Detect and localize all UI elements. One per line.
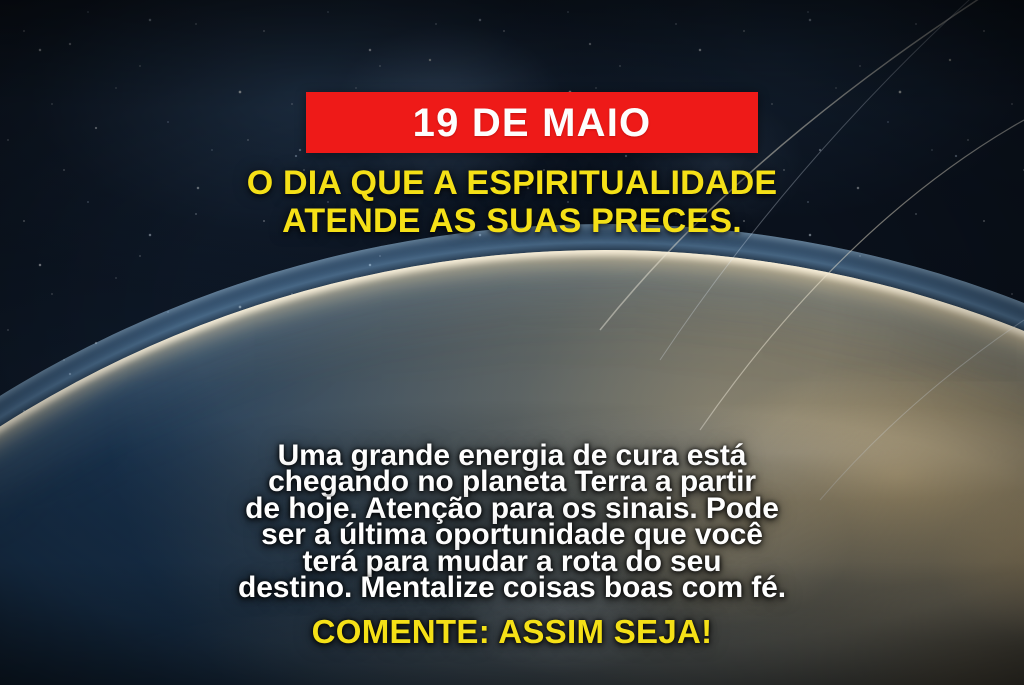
headline-line-2: ATENDE AS SUAS PRECES. [0,202,1024,240]
headline-line-1: O DIA QUE A ESPIRITUALIDADE [0,164,1024,202]
poster-content: 19 DE MAIO O DIA QUE A ESPIRITUALIDADE A… [0,0,1024,685]
body-copy: Uma grande energia de cura está chegando… [52,443,972,601]
body-line-6: destino. Mentalize coisas boas com fé. [52,575,972,601]
poster-canvas: 19 DE MAIO O DIA QUE A ESPIRITUALIDADE A… [0,0,1024,685]
cta-text: COMENTE: ASSIM SEJA! [0,614,1024,650]
headline: O DIA QUE A ESPIRITUALIDADE ATENDE AS SU… [0,164,1024,240]
date-badge-label: 19 DE MAIO [413,103,652,143]
date-badge: 19 DE MAIO [306,92,758,153]
